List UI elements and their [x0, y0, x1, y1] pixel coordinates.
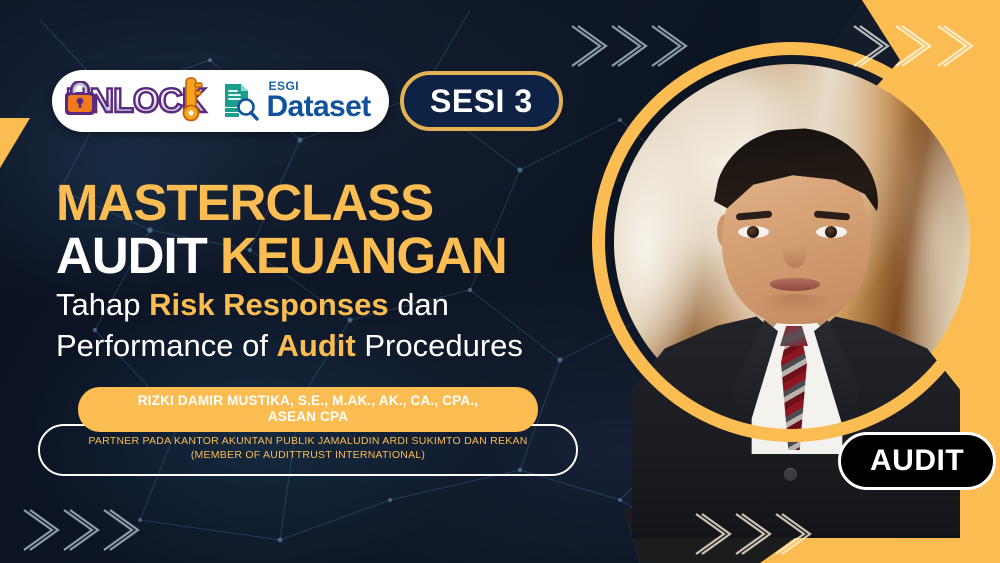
key-icon: [178, 76, 204, 122]
speaker-name-line-1: RIZKI DAMIR MUSTIKA, S.E., M.AK., AK., C…: [92, 393, 524, 409]
logo-bar: UNLOCK ES: [52, 70, 389, 132]
subtitle-l2-strong: Audit: [277, 328, 356, 363]
esgi-dataset-logo: ESGI Dataset: [221, 80, 370, 122]
headline-line-2: AUDIT KEUANGAN: [56, 229, 507, 282]
headline-line-1: MASTERCLASS: [56, 176, 507, 229]
subtitle-l2-part1: Performance of: [56, 328, 277, 363]
headline-audit: AUDIT: [56, 227, 207, 284]
speaker-name-badge: RIZKI DAMIR MUSTIKA, S.E., M.AK., AK., C…: [78, 387, 538, 432]
subtitle-l1-strong: Risk Responses: [149, 287, 389, 322]
page-title: MASTERCLASS AUDIT KEUANGAN: [56, 176, 507, 282]
subtitle-line-2: Performance of Audit Procedures: [56, 326, 523, 367]
topic-badge: AUDIT: [838, 432, 996, 490]
speaker-role-line-1: PARTNER PADA KANTOR AKUNTAN PUBLIK JAMAL…: [48, 434, 568, 448]
unlock-logo: UNLOCK: [66, 79, 205, 123]
speaker-name-line-2: ASEAN CPA: [92, 409, 524, 425]
session-badge: SESI 3: [400, 71, 563, 131]
subtitle: Tahap Risk Responses dan Performance of …: [56, 285, 523, 367]
dataset-label: Dataset: [266, 92, 370, 122]
portrait-ring: [592, 42, 992, 442]
speaker-role: PARTNER PADA KANTOR AKUNTAN PUBLIK JAMAL…: [48, 434, 568, 462]
subtitle-l1-part1: Tahap: [56, 287, 149, 322]
subtitle-line-1: Tahap Risk Responses dan: [56, 285, 523, 326]
subtitle-l2-part2: Procedures: [356, 328, 523, 363]
chevrons-bottom-left: [18, 502, 148, 560]
headline-masterclass: MASTERCLASS: [56, 174, 433, 231]
subtitle-l1-part2: dan: [389, 287, 449, 322]
padlock-icon: [63, 81, 97, 117]
speaker-role-line-2: (MEMBER OF AUDITTRUST INTERNATIONAL): [48, 448, 568, 462]
jacket-button: [784, 468, 797, 481]
poster-canvas: UNLOCK ES: [0, 0, 1000, 563]
headline-keuangan: KEUANGAN: [220, 227, 507, 284]
document-search-icon: [221, 81, 259, 121]
